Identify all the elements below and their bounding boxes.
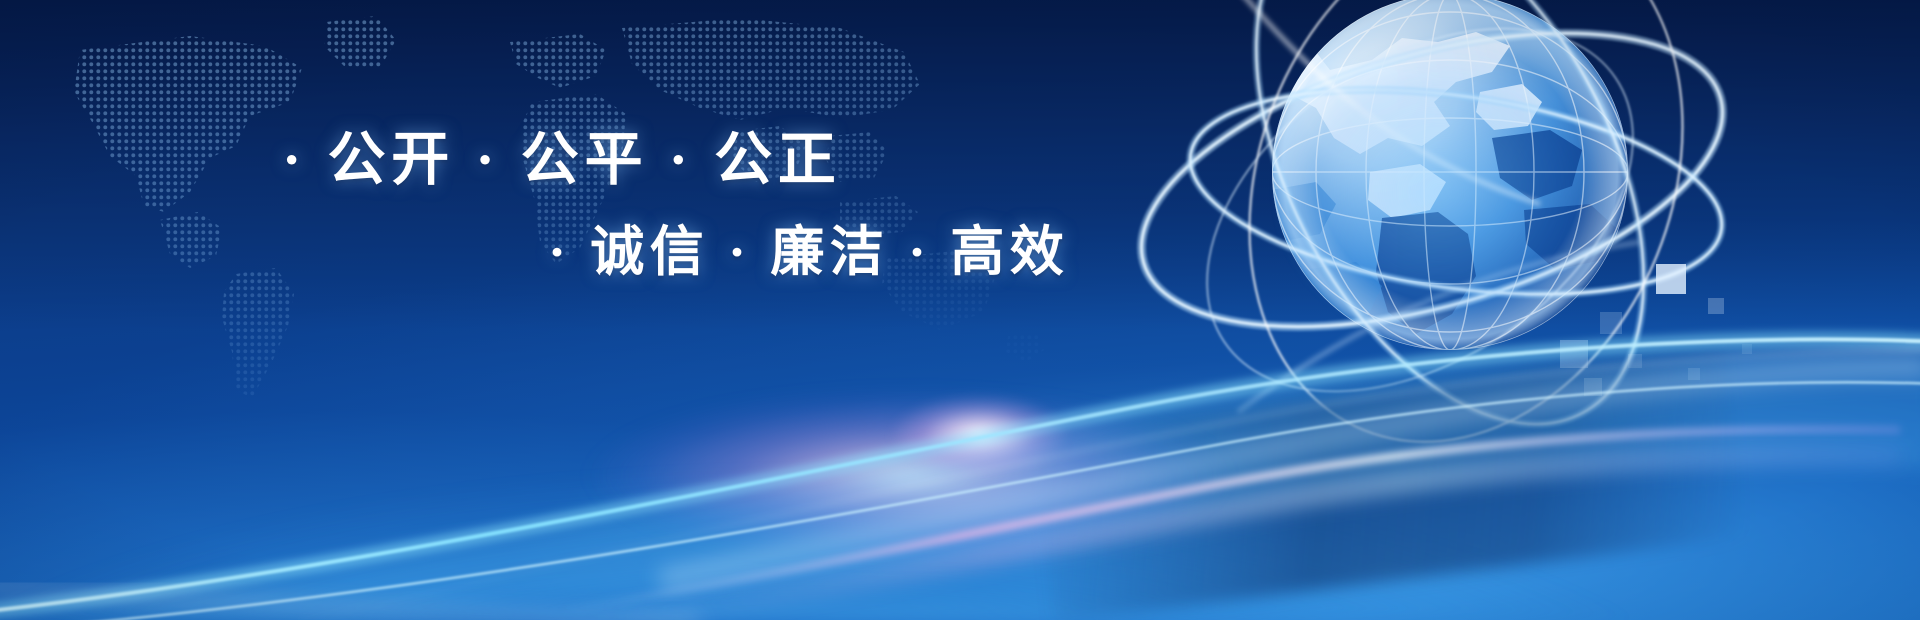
background-vignette	[0, 0, 1920, 620]
slogan-line-2: · 诚信 · 廉洁 · 高效	[0, 222, 1060, 282]
slogan-line-1: · 公开 · 公平 · 公正	[0, 128, 1060, 192]
slogan-block: · 公开 · 公平 · 公正 · 诚信 · 廉洁 · 高效	[0, 128, 1060, 282]
hero-banner: · 公开 · 公平 · 公正 · 诚信 · 廉洁 · 高效	[0, 0, 1920, 620]
